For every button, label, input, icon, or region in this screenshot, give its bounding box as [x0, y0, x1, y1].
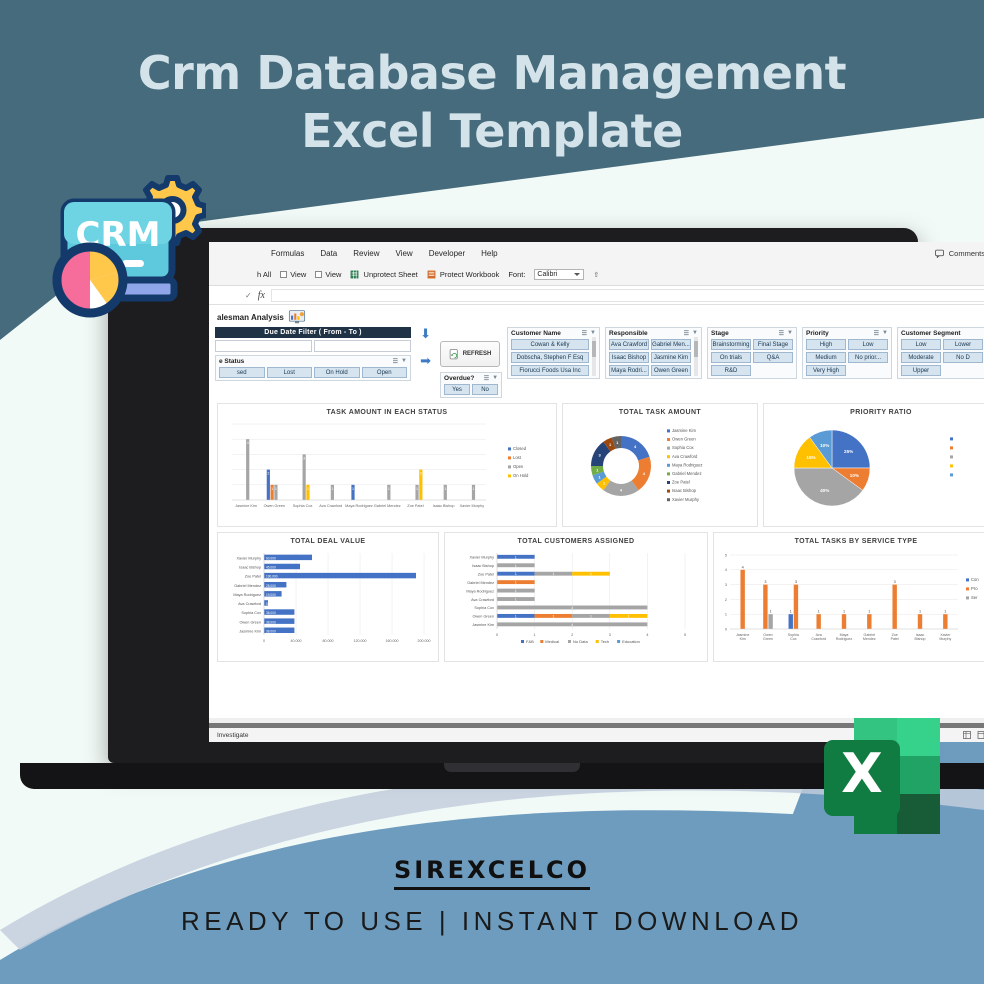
unprotect-sheet-button[interactable]: Unprotect Sheet [350, 270, 417, 279]
unprotect-sheet-label: Unprotect Sheet [364, 270, 418, 279]
chart-card-priority-ratio: PRIORITY RATIO 25%10%40%15%10% [763, 403, 984, 527]
svg-text:1: 1 [472, 487, 474, 491]
svg-text:Gabriel Mendez: Gabriel Mendez [374, 504, 401, 508]
svg-text:Zoe Patel: Zoe Patel [672, 480, 690, 485]
svg-text:Medical: Medical [545, 639, 559, 644]
svg-text:1: 1 [515, 555, 517, 559]
slicer-item[interactable]: R&D [711, 365, 751, 376]
svg-text:1: 1 [818, 610, 820, 614]
svg-text:4: 4 [646, 633, 648, 637]
refresh-block: REFRESH Overdue? ☰ ▼ [440, 327, 502, 398]
svg-text:Ava Crawford: Ava Crawford [471, 598, 494, 602]
svg-text:Sophia Cox: Sophia Cox [293, 504, 313, 508]
svg-text:45.000: 45.000 [266, 566, 276, 570]
svg-text:Owen Green: Owen Green [264, 504, 286, 508]
svg-text:On Hold: On Hold [513, 473, 529, 478]
svg-text:Jasmine Kim: Jasmine Kim [235, 504, 257, 508]
chart-title-customers-assigned: TOTAL CUSTOMERS ASSIGNED [445, 533, 707, 545]
slicer-item[interactable]: Moderate [901, 352, 941, 363]
dashboard-title: alesman Analysis [217, 313, 284, 322]
due-date-block: Due Date Filter ( From - To ) [215, 327, 411, 352]
svg-text:Education: Education [622, 639, 640, 644]
slicer-item[interactable]: On Hold [314, 367, 360, 378]
svg-text:1: 1 [331, 487, 333, 491]
protect-workbook-label: Protect Workbook [440, 270, 499, 279]
svg-text:Maya Rodriguez: Maya Rodriguez [345, 504, 373, 508]
svg-text:3: 3 [725, 583, 727, 587]
svg-text:Ava Crawford: Ava Crawford [319, 504, 342, 508]
scrollbar-thumb[interactable] [694, 341, 698, 357]
ribbon-tab-review[interactable]: Review [353, 249, 379, 258]
title-line-2: Excel Template [0, 102, 984, 160]
slicer-responsible-items[interactable]: Ava Crawford Gabriel Men... Isaac Bishop… [609, 339, 691, 376]
slicer-scrollbar[interactable] [592, 337, 596, 376]
chart-card-deal-value: TOTAL DEAL VALUE 040.00080.000120.000160… [217, 532, 439, 662]
footer: SIREXCELCO READY TO USE | INSTANT DOWNLO… [0, 856, 984, 937]
ribbon-controls[interactable]: h All View View Unprotect Sheet [209, 264, 984, 286]
slicer-item[interactable]: Isaac Bishop [609, 352, 649, 363]
svg-text:Ava Crawford: Ava Crawford [238, 602, 261, 606]
charts-row-bottom: TOTAL DEAL VALUE 040.00080.000120.000160… [215, 532, 984, 662]
svg-text:2: 2 [725, 598, 727, 602]
svg-text:Closed: Closed [513, 446, 527, 451]
svg-text:1: 1 [515, 598, 517, 602]
slicer-icons[interactable]: ☰ ▼ [874, 330, 888, 337]
svg-text:38.000: 38.000 [266, 611, 276, 615]
svg-text:Gabriel Mendez: Gabriel Mendez [234, 584, 261, 588]
svg-text:Xavier Murphy: Xavier Murphy [237, 557, 262, 561]
svg-text:5: 5 [725, 553, 727, 557]
comment-icon [935, 249, 944, 258]
multiselect-icon[interactable]: ☰ [393, 358, 398, 365]
slicer-responsible-title: Responsible [609, 330, 648, 337]
slicer-item[interactable]: Q&A [753, 352, 793, 363]
svg-text:2: 2 [267, 472, 269, 476]
svg-text:1: 1 [843, 610, 845, 614]
clear-filter-icon[interactable]: ▼ [492, 375, 498, 382]
svg-text:Maya Rodriguez: Maya Rodriguez [233, 593, 261, 597]
slicer-customer-name[interactable]: Customer Name ☰ ▼ Cowan & Kelly [507, 327, 600, 379]
svg-text:1: 1 [271, 487, 273, 491]
chart-task-amount-in-each-status: 4Jasmine Kim211Owen Green31Sophia Cox1Av… [218, 416, 558, 521]
slicer-item[interactable]: Open [362, 367, 408, 378]
comments-label: Comments [949, 249, 984, 258]
slicer-priority-items[interactable]: High Low Medium No prior... Very High [806, 339, 888, 376]
slicer-item[interactable]: sed [219, 367, 265, 378]
ribbon-tab-view[interactable]: View [395, 249, 412, 258]
slicer-item[interactable]: High [806, 339, 846, 350]
svg-text:15%: 15% [806, 455, 815, 460]
svg-text:1: 1 [790, 610, 792, 614]
svg-text:0: 0 [725, 627, 727, 631]
page-layout-icon[interactable] [977, 731, 984, 739]
slicer-item[interactable]: Jasmine Kim [651, 352, 691, 363]
clear-filter-icon[interactable]: ▼ [787, 330, 793, 337]
clear-filter-icon[interactable]: ▼ [692, 330, 698, 337]
svg-text:40%: 40% [820, 488, 829, 493]
svg-text:5: 5 [266, 602, 268, 606]
svg-text:1: 1 [416, 487, 418, 491]
due-date-to-input[interactable] [314, 340, 411, 352]
svg-text:4: 4 [247, 441, 249, 445]
slicer-item[interactable]: Owen Green [651, 365, 691, 376]
slicer-stage-items[interactable]: Brainstorming Final Stage On trials Q&A … [711, 339, 793, 376]
title-line-1: Crm Database Management [0, 44, 984, 102]
slicer-status-items[interactable]: sed Lost On Hold Open [219, 367, 407, 378]
svg-text:1: 1 [388, 487, 390, 491]
svg-text:25%: 25% [844, 449, 853, 454]
protect-workbook-icon [427, 270, 436, 279]
slicer-item[interactable]: Low [848, 339, 888, 350]
chart-total-tasks-by-service-type: 0123454JasmineKim31OwenGreen13SophiaCox1… [714, 545, 984, 657]
ribbon-tab-help[interactable]: Help [481, 249, 497, 258]
svg-text:Gabriel Mendez: Gabriel Mendez [672, 471, 702, 476]
brand-wrap: SIREXCELCO [0, 856, 984, 890]
excel-logo-letter: X [841, 742, 883, 805]
chart-title-task-status: TASK AMOUNT IN EACH STATUS [218, 404, 556, 416]
svg-text:Jasmine Kim: Jasmine Kim [239, 629, 261, 633]
laptop-screen: Formulas Data Review View Developer Help… [209, 242, 984, 742]
chart-title-priority-ratio: PRIORITY RATIO [764, 404, 984, 416]
refresh-label: REFRESH [463, 351, 492, 357]
svg-text:Gabriel Mendez: Gabriel Mendez [467, 581, 494, 585]
multiselect-icon[interactable]: ☰ [684, 330, 689, 337]
chart-card-tasks-service-type: TOTAL TASKS BY SERVICE TYPE 0123454Jasmi… [713, 532, 984, 662]
svg-text:3: 3 [764, 580, 766, 584]
refresh-button[interactable]: REFRESH [440, 341, 500, 367]
svg-text:Isaac Bishop: Isaac Bishop [472, 564, 494, 568]
clear-filter-icon[interactable]: ▼ [882, 330, 888, 337]
svg-text:1: 1 [552, 614, 554, 618]
arrow-down-icon: ⬇ [420, 329, 431, 339]
svg-text:1: 1 [275, 487, 277, 491]
due-and-status-block: Due Date Filter ( From - To ) e Status [215, 327, 411, 381]
svg-text:Zoe Patel: Zoe Patel [407, 504, 423, 508]
svg-text:Cox: Cox [790, 637, 797, 641]
svg-text:1: 1 [515, 581, 517, 585]
svg-text:1: 1 [590, 614, 592, 618]
slicer-customer-name-header: Customer Name ☰ ▼ [511, 330, 596, 337]
svg-text:38.000: 38.000 [266, 620, 276, 624]
chart-total-deal-value: 040.00080.000120.000160.000200.00060.000… [218, 545, 440, 657]
svg-text:1: 1 [919, 610, 921, 614]
slicer-responsible-header: Responsible ☰ ▼ [609, 330, 698, 337]
chart-total-task-amount: 444111311Jasmine KimOwen GreenSophia Cox… [563, 416, 759, 521]
svg-text:3: 3 [609, 633, 611, 637]
slicer-overdue-icons[interactable]: ☰ ▼ [484, 375, 498, 382]
footer-tagline: READY TO USE | INSTANT DOWNLOAD [0, 906, 984, 937]
svg-text:Green: Green [763, 637, 773, 641]
svg-text:120.000: 120.000 [354, 639, 367, 643]
dashboard: alesman Analysis [209, 305, 984, 662]
due-date-inputs[interactable] [215, 340, 411, 352]
multiselect-icon[interactable]: ☰ [484, 375, 489, 382]
svg-text:Con: Con [971, 577, 979, 582]
svg-text:28.000: 28.000 [266, 584, 276, 588]
chart-card-customers-assigned: TOTAL CUSTOMERS ASSIGNED 0123451Xavier M… [444, 532, 708, 662]
slicer-item[interactable]: Fiorucci Foods Usa Inc [511, 365, 589, 376]
svg-text:Sophia Cox: Sophia Cox [241, 611, 261, 615]
slicer-icons[interactable]: ☰ ▼ [582, 330, 596, 337]
show-all-label[interactable]: h All [257, 270, 271, 279]
svg-text:2: 2 [420, 472, 422, 476]
svg-text:0: 0 [263, 639, 265, 643]
slicer-customer-segment-items[interactable]: Low Lower Moderate No D Upper [901, 339, 983, 376]
svg-text:Ser: Ser [971, 595, 978, 600]
svg-text:1: 1 [515, 572, 517, 576]
clear-filter-icon[interactable]: ▼ [590, 330, 596, 337]
svg-text:Owen Green: Owen Green [239, 620, 261, 624]
svg-text:Xavier Murphy: Xavier Murphy [672, 497, 700, 502]
chart-title-deal-value: TOTAL DEAL VALUE [218, 533, 438, 545]
chevron-down-icon [574, 273, 580, 276]
ribbon-tab-formulas[interactable]: Formulas [271, 249, 304, 258]
chart-total-customers-assigned: 0123451Xavier Murphy1Isaac Bishop111Zoe … [445, 545, 709, 657]
refresh-icon [449, 349, 460, 360]
svg-text:4: 4 [725, 568, 727, 572]
svg-text:1: 1 [770, 610, 772, 614]
clear-filter-icon[interactable]: ▼ [401, 358, 407, 365]
svg-text:Owen Green: Owen Green [472, 615, 494, 619]
svg-text:38.000: 38.000 [266, 629, 276, 633]
slicer-stage-header: Stage ☰ ▼ [711, 330, 793, 337]
svg-text:Patel: Patel [891, 637, 899, 641]
slicer-priority-title: Priority [806, 330, 829, 337]
laptop-notch [444, 763, 580, 772]
svg-text:1: 1 [352, 487, 354, 491]
svg-text:2: 2 [571, 633, 573, 637]
svg-text:Xavier Murphy: Xavier Murphy [470, 556, 495, 560]
ribbon-tab-developer[interactable]: Developer [429, 249, 465, 258]
svg-text:1: 1 [307, 487, 309, 491]
chart-card-total-task: TOTAL TASK AMOUNT 444111311Jasmine KimOw… [562, 403, 758, 527]
svg-text:Murphy: Murphy [939, 637, 951, 641]
svg-text:60.000: 60.000 [266, 557, 276, 561]
svg-text:10%: 10% [850, 473, 859, 478]
ribbon-tab-bar[interactable]: Formulas Data Review View Developer Help… [209, 242, 984, 264]
unprotect-sheet-icon [350, 270, 359, 279]
protect-workbook-button[interactable]: Protect Workbook [427, 270, 500, 279]
chart-title-total-task: TOTAL TASK AMOUNT [563, 404, 757, 416]
svg-text:1: 1 [725, 613, 727, 617]
status-bar-right[interactable] [963, 731, 984, 739]
multiselect-icon[interactable]: ☰ [874, 330, 879, 337]
slicer-priority-header: Priority ☰ ▼ [806, 330, 888, 337]
slicer-item[interactable]: Lower [943, 339, 983, 350]
slicer-icons[interactable]: ☰ ▼ [684, 330, 698, 337]
slicer-item[interactable]: Medium [806, 352, 846, 363]
multiselect-icon[interactable]: ☰ [582, 330, 587, 337]
svg-text:160.000: 160.000 [386, 639, 399, 643]
slicer-item[interactable]: Dobscha, Stephen F Esq [511, 352, 589, 363]
svg-text:Mendez: Mendez [863, 637, 876, 641]
pie-chart-icon [56, 246, 124, 314]
svg-text:Jasmine Kim: Jasmine Kim [472, 623, 494, 627]
svg-text:Owen Green: Owen Green [672, 437, 696, 442]
worksheet-area: alesman Analysis [209, 305, 984, 718]
svg-text:3: 3 [303, 456, 305, 460]
slicer-item[interactable]: Brainstorming [711, 339, 751, 350]
svg-text:1: 1 [552, 572, 554, 576]
normal-view-icon[interactable] [963, 731, 971, 739]
svg-text:1: 1 [628, 614, 630, 618]
svg-text:40.000: 40.000 [291, 639, 302, 643]
svg-text:80.000: 80.000 [323, 639, 334, 643]
slicer-icons[interactable]: ☰ ▼ [779, 330, 793, 337]
svg-text:Maya Rodriguez: Maya Rodriguez [672, 462, 703, 467]
function-icon[interactable]: fx [258, 290, 265, 301]
svg-text:1: 1 [444, 487, 446, 491]
svg-text:Maya Rodriguez: Maya Rodriguez [466, 589, 494, 593]
svg-text:1: 1 [515, 589, 517, 593]
page-title: Crm Database Management Excel Template [0, 44, 984, 160]
svg-text:Isaac Bishop: Isaac Bishop [433, 504, 455, 508]
slicer-customer-segment-header: Customer Segment [901, 330, 983, 337]
excel-window: Formulas Data Review View Developer Help… [209, 242, 984, 742]
svg-text:Ava Crawford: Ava Crawford [672, 454, 698, 459]
view-label-2: View [325, 270, 341, 279]
svg-text:1: 1 [868, 610, 870, 614]
svg-text:Tech: Tech [601, 639, 609, 644]
slicer-overdue[interactable]: Overdue? ☰ ▼ Yes No [440, 372, 502, 398]
svg-text:3: 3 [795, 580, 797, 584]
slicer-status-title: e Status [219, 358, 244, 365]
charts-row-top: TASK AMOUNT IN EACH STATUS 4Jasmine Kim2… [215, 403, 984, 527]
view-label-1: View [290, 270, 306, 279]
svg-text:1: 1 [515, 564, 517, 568]
slicer-overdue-items[interactable]: Yes No [444, 384, 498, 395]
svg-text:Isaac Bishop: Isaac Bishop [672, 488, 697, 493]
svg-text:Xavier Murphy: Xavier Murphy [460, 504, 485, 508]
slicer-item[interactable]: Ava Crawford [609, 339, 649, 350]
comments-button[interactable]: Comments [935, 249, 984, 258]
svg-text:3: 3 [894, 580, 896, 584]
slicer-item[interactable]: No [472, 384, 498, 395]
svg-text:Isaac Bishop: Isaac Bishop [239, 566, 261, 570]
slicer-scrollbar[interactable] [694, 337, 698, 376]
slicer-item[interactable]: Maya Rodri... [609, 365, 649, 376]
chart-title-tasks-service-type: TOTAL TASKS BY SERVICE TYPE [714, 533, 984, 545]
formula-input[interactable] [271, 289, 984, 302]
svg-text:F&B: F&B [526, 639, 534, 644]
slicer-overdue-header: Overdue? ☰ ▼ [444, 375, 498, 382]
svg-text:Kim: Kim [740, 637, 746, 641]
font-select[interactable]: Calibri [534, 269, 584, 280]
slicer-item[interactable]: Final Stage [753, 339, 793, 350]
svg-text:Zoe Patel: Zoe Patel [478, 572, 494, 576]
svg-text:Pro: Pro [971, 586, 978, 591]
slicer-item[interactable]: Lost [267, 367, 313, 378]
svg-text:4: 4 [742, 565, 744, 569]
svg-text:1: 1 [944, 610, 946, 614]
svg-text:10%: 10% [820, 443, 829, 448]
chart-priority-ratio: 25%10%40%15%10% [764, 416, 984, 521]
slicer-item[interactable]: Yes [444, 384, 470, 395]
svg-text:19.000: 19.000 [266, 593, 276, 597]
svg-text:Sophia Cox: Sophia Cox [474, 606, 494, 610]
svg-text:5: 5 [684, 633, 686, 637]
slicer-overdue-title: Overdue? [444, 375, 474, 382]
slicer-item[interactable]: Gabriel Men... [651, 339, 691, 350]
slicer-priority[interactable]: Priority ☰ ▼ High Low Medium [802, 327, 892, 379]
checkbox-icon [280, 271, 287, 278]
chart-card-task-status: TASK AMOUNT IN EACH STATUS 4Jasmine Kim2… [217, 403, 557, 527]
formula-bar[interactable]: ✓ fx [209, 287, 984, 305]
svg-text:1: 1 [515, 614, 517, 618]
dashboard-header: alesman Analysis [215, 309, 984, 325]
svg-text:No Data: No Data [573, 639, 588, 644]
slicer-status-icons[interactable]: ☰ ▼ [393, 358, 407, 365]
svg-text:190.000: 190.000 [266, 575, 278, 579]
slicer-responsible[interactable]: Responsible ☰ ▼ Ava Crawford [605, 327, 702, 379]
slicer-item[interactable]: Cowan & Kelly [511, 339, 589, 350]
slicer-item[interactable]: Upper [901, 365, 941, 376]
slicer-item[interactable]: Low [901, 339, 941, 350]
svg-text:4: 4 [571, 606, 573, 610]
svg-text:Zoe Patel: Zoe Patel [245, 575, 261, 579]
svg-text:1: 1 [534, 633, 536, 637]
slicer-item[interactable]: No prior... [848, 352, 888, 363]
slicer-status[interactable]: e Status ☰ ▼ sed Lost [215, 355, 411, 381]
slicer-item[interactable]: No D [943, 352, 983, 363]
view-checkbox-1[interactable]: View [280, 270, 306, 279]
svg-text:Open: Open [513, 464, 524, 469]
confirm-icon[interactable]: ✓ [245, 291, 252, 300]
view-checkbox-2[interactable]: View [315, 270, 341, 279]
svg-text:1: 1 [590, 572, 592, 576]
svg-text:Bishop: Bishop [915, 637, 926, 641]
slicer-item[interactable]: Very High [806, 365, 846, 376]
status-bar-text: Investigate [217, 732, 248, 739]
font-value: Calibri [537, 271, 557, 278]
brand-name: SIREXCELCO [394, 856, 590, 890]
laptop-body: Formulas Data Review View Developer Help… [108, 228, 918, 763]
svg-text:Lost: Lost [513, 455, 522, 460]
slicer-item[interactable]: On trials [711, 352, 751, 363]
excel-logo: X [820, 700, 944, 852]
svg-text:0: 0 [496, 633, 498, 637]
slicer-status-header: e Status ☰ ▼ [219, 358, 407, 365]
filters-row: Due Date Filter ( From - To ) e Status [215, 327, 984, 398]
svg-text:Sophia Cox: Sophia Cox [672, 445, 695, 450]
svg-text:Crawford: Crawford [811, 637, 826, 641]
slicer-stage-title: Stage [711, 330, 729, 337]
svg-text:Jasmine Kim: Jasmine Kim [672, 428, 696, 433]
due-date-header: Due Date Filter ( From - To ) [215, 327, 411, 338]
slicer-customer-name-items[interactable]: Cowan & Kelly Dobscha, Stephen F Esq Fio… [511, 339, 589, 376]
svg-text:4: 4 [571, 623, 573, 627]
slicer-stage[interactable]: Stage ☰ ▼ Brainstorming Final Stage [707, 327, 797, 379]
slicer-customer-segment-title: Customer Segment [901, 330, 961, 337]
slicer-customer-segment[interactable]: Customer Segment Low Lower Moderate No D… [897, 327, 984, 379]
due-date-from-input[interactable] [215, 340, 312, 352]
multiselect-icon[interactable]: ☰ [779, 330, 784, 337]
arrow-column: ⬇ ➡ [416, 327, 435, 369]
slicer-customer-name-title: Customer Name [511, 330, 561, 337]
ribbon-tab-data[interactable]: Data [320, 249, 337, 258]
svg-text:Rodriguez: Rodriguez [836, 637, 853, 641]
crm-logo: CRM [46, 172, 206, 324]
scrollbar-thumb[interactable] [592, 341, 596, 357]
checkbox-icon [315, 271, 322, 278]
font-label: Font: [508, 270, 525, 279]
arrow-right-icon: ➡ [420, 353, 431, 369]
svg-text:200.000: 200.000 [418, 639, 431, 643]
dialog-launcher-icon[interactable]: ⇧ [593, 271, 599, 279]
analysis-monitor-icon [288, 310, 306, 324]
